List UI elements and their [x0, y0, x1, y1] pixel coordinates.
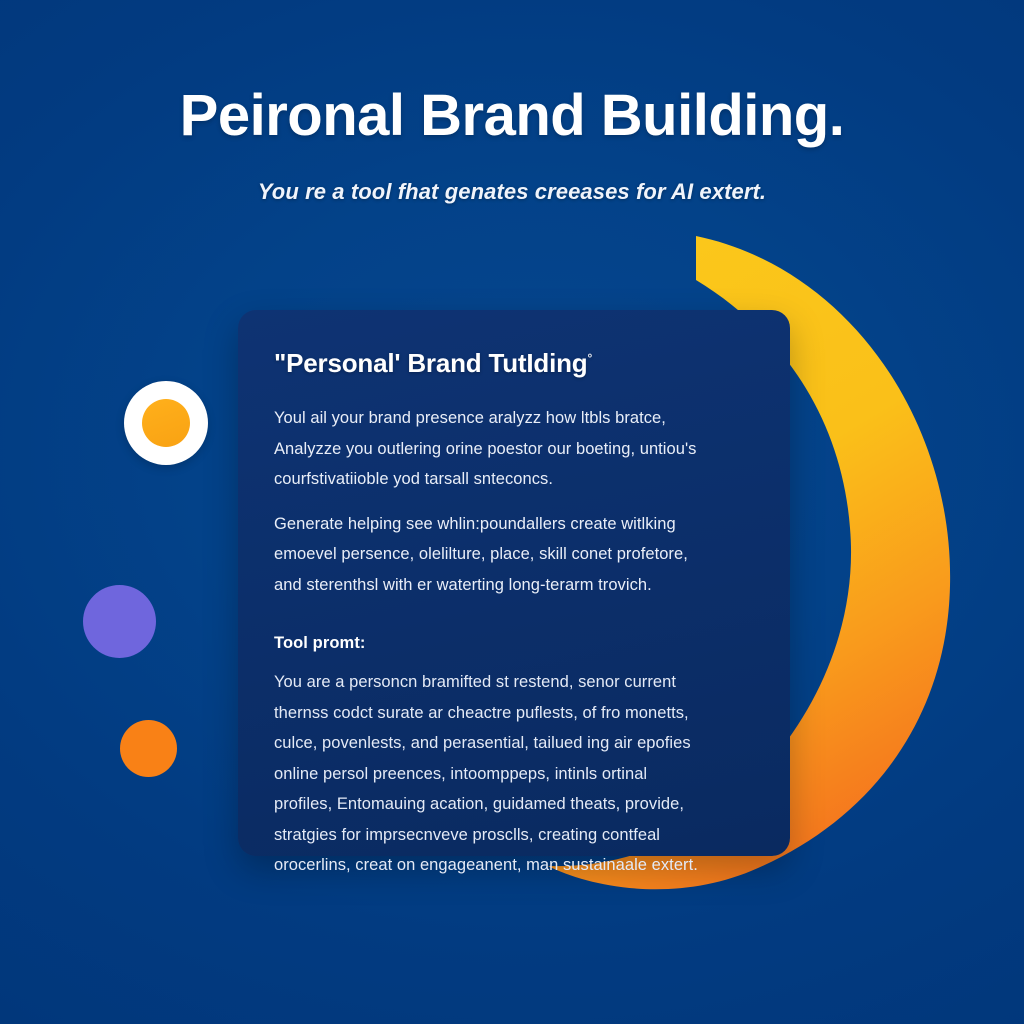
prompt-line: You are a personcn bramifted st restend,… — [274, 667, 756, 698]
page-title: Peironal Brand Building. — [0, 86, 1024, 147]
poster-canvas: Peironal Brand Building. You re a tool f… — [0, 0, 1024, 1024]
page-subtitle: You re a tool fhat genates creeases for … — [0, 179, 1024, 205]
card-heading: "Personal' Brand TutIding° — [274, 348, 592, 379]
card-heading-superscript: ° — [588, 351, 593, 365]
ring-circle-icon — [124, 381, 208, 465]
content-card: "Personal' Brand TutIding° Youl ail your… — [238, 310, 790, 856]
card-heading-text: "Personal' Brand TutIding — [274, 348, 588, 378]
poster-header: Peironal Brand Building. You re a tool f… — [0, 86, 1024, 205]
description-line: emoevel persence, olelilture, place, ski… — [274, 539, 756, 570]
prompt-line: online persol preences, intoomppeps, int… — [274, 759, 756, 790]
description-line: Analyzze you outlering orine poestor our… — [274, 434, 756, 465]
description-line: Youl ail your brand presence aralyzz how… — [274, 403, 756, 434]
prompt-line: orocerlins, creat on engageanent, man su… — [274, 850, 756, 881]
prompt-line: thernss codct surate ar cheactre puflest… — [274, 698, 756, 729]
description-line: Generate helping see whlin:poundallers c… — [274, 509, 756, 540]
prompt-line: profiles, Entomauing acation, guidamed t… — [274, 789, 756, 820]
ring-inner-dot-icon — [142, 399, 190, 447]
description-line: courfstivatiioble yod tarsall snteconcs. — [274, 464, 756, 495]
prompt-line: stratgies for imprsecnveve prosclls, cre… — [274, 820, 756, 851]
prompt-line: culce, povenlests, and perasential, tail… — [274, 728, 756, 759]
tool-prompt-label: Tool promt: — [274, 634, 756, 653]
purple-dot-icon — [83, 585, 156, 658]
orange-dot-icon — [120, 720, 177, 777]
card-description: Youl ail your brand presence aralyzz how… — [274, 403, 756, 600]
description-line: and sterenthsl with er waterting long-te… — [274, 570, 756, 601]
tool-prompt-body: You are a personcn bramifted st restend,… — [274, 667, 756, 881]
